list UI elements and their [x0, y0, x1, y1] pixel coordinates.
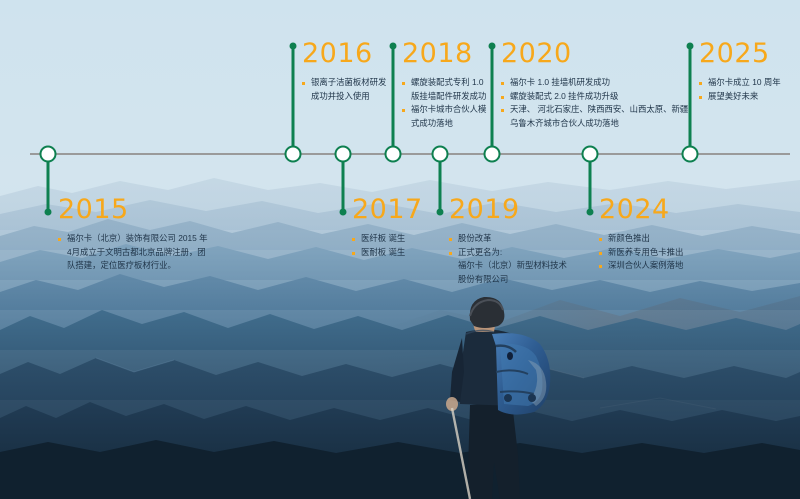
bullet-item: 医耐板 诞生 — [352, 246, 423, 260]
bullet-item: 福尔卡 1.0 挂墙机研发成功 — [501, 76, 688, 90]
timeline-node-2020[interactable] — [484, 146, 501, 163]
timeline-node-2019[interactable] — [432, 146, 449, 163]
bullet-list-2018: 螺旋装配式专利 1.0 版挂墙配件研发成功 福尔卡城市合伙人模 式成功落地 — [402, 76, 486, 130]
bullet-item: 福尔卡（北京）装饰有限公司 2015 年 — [58, 232, 208, 246]
stem-2025 — [689, 46, 692, 154]
stem-cap-2019 — [437, 209, 444, 216]
year-label-2018: 2018 — [402, 40, 486, 67]
bullet-item: 深圳合伙人案例落地 — [599, 259, 683, 273]
bullet-list-2016: 银离子洁菌板材研发 成功并投入使用 — [302, 76, 386, 103]
bullet-item: 福尔卡成立 10 周年 — [699, 76, 781, 90]
year-label-2017: 2017 — [352, 196, 423, 223]
stem-cap-2016 — [290, 43, 297, 50]
stem-2024 — [589, 154, 592, 212]
bullet-item: 展望美好未来 — [699, 90, 781, 104]
bullet-item: 正式更名为: — [449, 246, 567, 260]
bullet-item: 队搭建，定位医疗板材行业。 — [58, 259, 208, 273]
stem-cap-2024 — [587, 209, 594, 216]
timeline-node-2017[interactable] — [335, 146, 352, 163]
bullet-list-2015: 福尔卡（北京）装饰有限公司 2015 年 4月成立于文明古都北京品牌注册，团 队… — [58, 232, 208, 273]
timeline-entry-2019[interactable]: 2019 股份改革 正式更名为: 福尔卡（北京）新型材料技术 股份有限公司 — [449, 196, 567, 286]
bullet-item: 福尔卡（北京）新型材料技术 — [449, 259, 567, 273]
bullet-item: 新医养专用色卡推出 — [599, 246, 683, 260]
year-label-2020: 2020 — [501, 40, 688, 67]
timeline-entry-2024[interactable]: 2024 新颜色推出 新医养专用色卡推出 深圳合伙人案例落地 — [599, 196, 683, 273]
timeline-entry-2018[interactable]: 2018 螺旋装配式专利 1.0 版挂墙配件研发成功 福尔卡城市合伙人模 式成功… — [402, 40, 486, 130]
timeline-node-2015[interactable] — [40, 146, 57, 163]
timeline-node-2016[interactable] — [285, 146, 302, 163]
timeline-entry-2015[interactable]: 2015 福尔卡（北京）装饰有限公司 2015 年 4月成立于文明古都北京品牌注… — [58, 196, 208, 273]
stem-2017 — [342, 154, 345, 212]
bullet-item: 股份有限公司 — [449, 273, 567, 287]
bullet-item: 银离子洁菌板材研发 — [302, 76, 386, 90]
stem-2016 — [292, 46, 295, 154]
bullet-item: 医纤板 诞生 — [352, 232, 423, 246]
bullet-item: 天津、 河北石家庄、陕西西安、山西太原、新疆 — [501, 103, 688, 117]
stem-2018 — [392, 46, 395, 154]
year-label-2019: 2019 — [449, 196, 567, 223]
bullet-item: 乌鲁木齐城市合伙人成功落地 — [501, 117, 688, 131]
stem-cap-2018 — [390, 43, 397, 50]
bullet-list-2025: 福尔卡成立 10 周年 展望美好未来 — [699, 76, 781, 103]
bullet-item: 新颜色推出 — [599, 232, 683, 246]
timeline-entry-2017[interactable]: 2017 医纤板 诞生 医耐板 诞生 — [352, 196, 423, 259]
year-label-2025: 2025 — [699, 40, 781, 67]
bullet-list-2017: 医纤板 诞生 医耐板 诞生 — [352, 232, 423, 259]
bullet-item: 股份改革 — [449, 232, 567, 246]
timeline-entry-2025[interactable]: 2025 福尔卡成立 10 周年 展望美好未来 — [699, 40, 781, 103]
bullet-list-2019: 股份改革 正式更名为: 福尔卡（北京）新型材料技术 股份有限公司 — [449, 232, 567, 286]
stem-cap-2017 — [340, 209, 347, 216]
stem-cap-2020 — [489, 43, 496, 50]
year-label-2024: 2024 — [599, 196, 683, 223]
year-label-2015: 2015 — [58, 196, 208, 223]
timeline-node-2025[interactable] — [682, 146, 699, 163]
timeline-entry-2020[interactable]: 2020 福尔卡 1.0 挂墙机研发成功 螺旋装配式 2.0 挂件成功升级 天津… — [501, 40, 688, 130]
timeline-axis — [30, 153, 790, 155]
bullet-item: 式成功落地 — [402, 117, 486, 131]
stem-2015 — [47, 154, 50, 212]
bullet-item: 螺旋装配式专利 1.0 — [402, 76, 486, 90]
bullet-list-2020: 福尔卡 1.0 挂墙机研发成功 螺旋装配式 2.0 挂件成功升级 天津、 河北石… — [501, 76, 688, 130]
bullet-item: 福尔卡城市合伙人模 — [402, 103, 486, 117]
stem-2020 — [491, 46, 494, 154]
timeline-node-2024[interactable] — [582, 146, 599, 163]
stem-2019 — [439, 154, 442, 212]
bullet-list-2024: 新颜色推出 新医养专用色卡推出 深圳合伙人案例落地 — [599, 232, 683, 273]
timeline-entry-2016[interactable]: 2016 银离子洁菌板材研发 成功并投入使用 — [302, 40, 386, 103]
timeline-node-2018[interactable] — [385, 146, 402, 163]
bullet-item: 成功并投入使用 — [302, 90, 386, 104]
bullet-item: 版挂墙配件研发成功 — [402, 90, 486, 104]
timeline-infographic: 2015 福尔卡（北京）装饰有限公司 2015 年 4月成立于文明古都北京品牌注… — [0, 0, 800, 499]
bullet-item: 4月成立于文明古都北京品牌注册，团 — [58, 246, 208, 260]
stem-cap-2015 — [45, 209, 52, 216]
bullet-item: 螺旋装配式 2.0 挂件成功升级 — [501, 90, 688, 104]
year-label-2016: 2016 — [302, 40, 386, 67]
